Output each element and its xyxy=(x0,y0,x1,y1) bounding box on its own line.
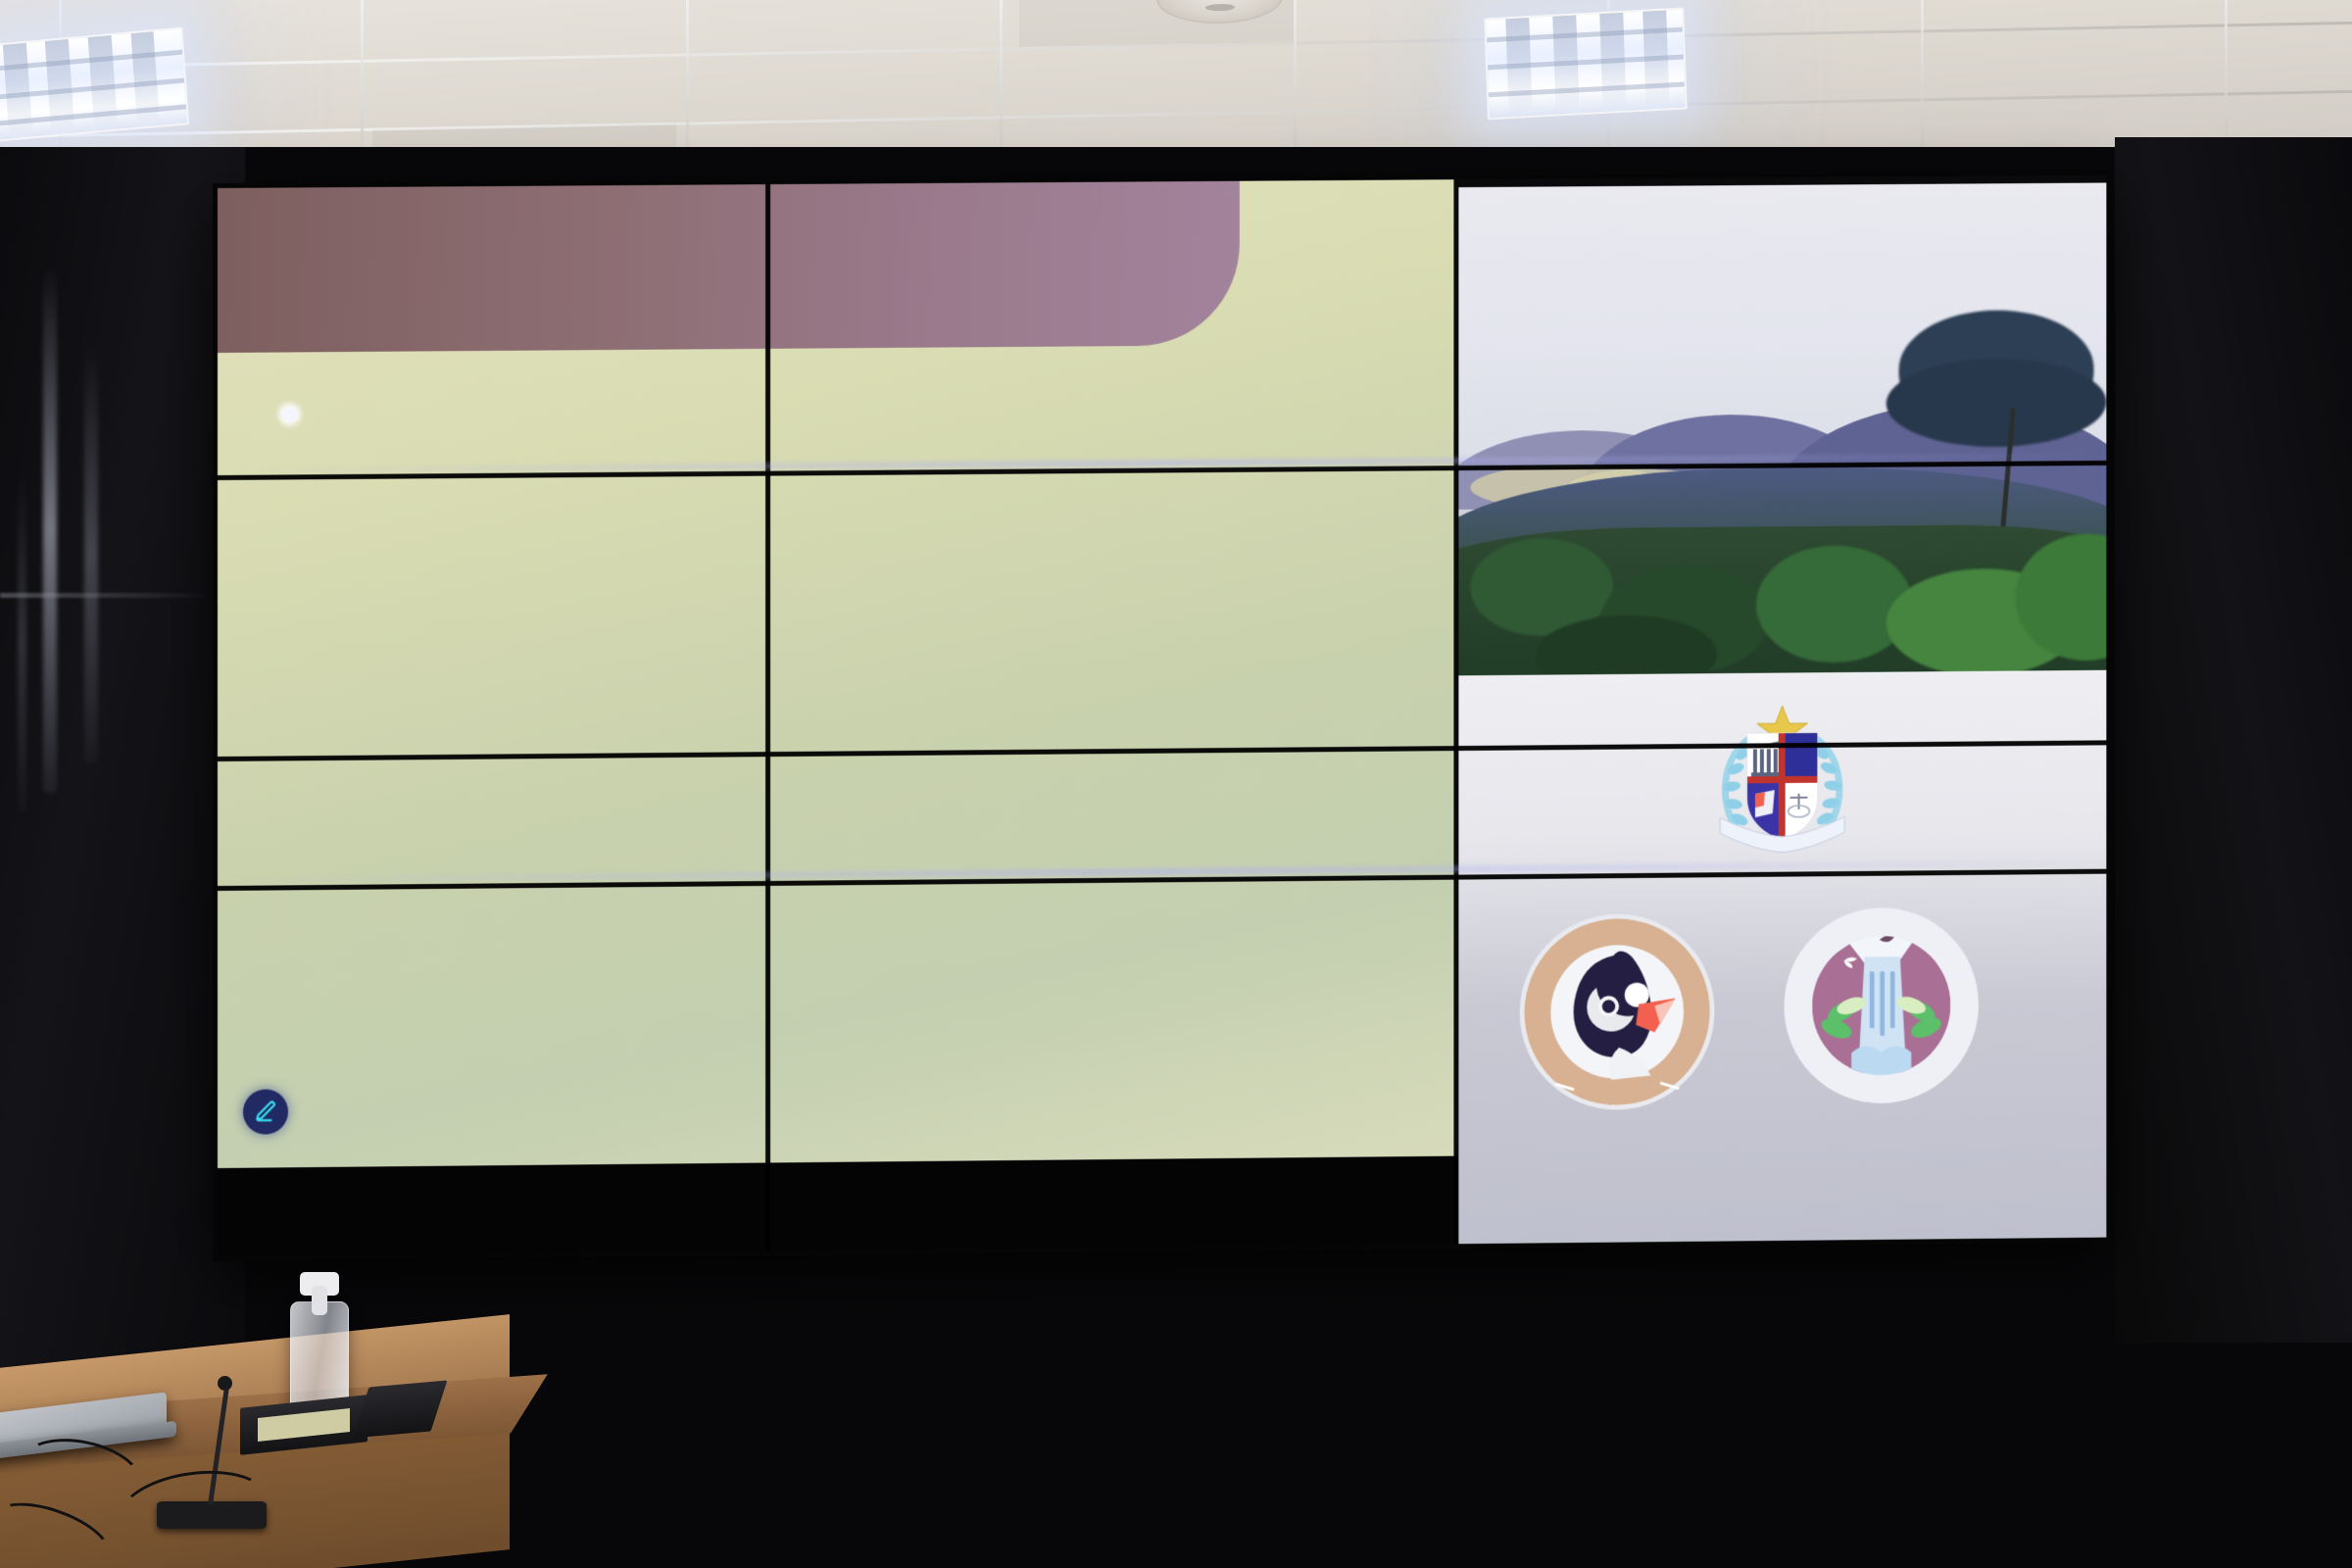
slide-kicker xyxy=(282,366,1396,374)
bullet-item xyxy=(272,381,1396,390)
room-scene xyxy=(0,0,2352,1568)
project-seals xyxy=(1457,877,2106,1205)
logo-area xyxy=(1457,670,2106,1244)
mpal-crest-logo xyxy=(1686,704,1880,881)
bullet-item xyxy=(272,381,1396,390)
bullet-item xyxy=(272,381,1396,390)
bezel-seam-vertical-2 xyxy=(1453,179,1458,1244)
ceiling-light-right xyxy=(1484,7,1688,120)
slide-body xyxy=(272,366,1396,390)
bullet-item xyxy=(272,381,1396,390)
bullet-list xyxy=(272,381,1396,390)
bullet-item xyxy=(272,381,1396,390)
pro-reservas-seal xyxy=(1779,902,1984,1110)
left-wall-panel xyxy=(0,147,245,1411)
bullet-item xyxy=(272,381,1396,390)
bezel-seam-vertical-1 xyxy=(765,184,770,1250)
right-wall-panel xyxy=(2115,137,2352,1343)
pencil-edit-icon[interactable] xyxy=(243,1089,288,1134)
video-wall-display[interactable] xyxy=(218,175,2106,1256)
mpeal-species-seal xyxy=(1514,907,1720,1116)
presentation-slide xyxy=(218,179,1457,1168)
forest-photograph xyxy=(1457,183,2106,676)
ceiling-light-left xyxy=(0,26,189,142)
slide-header-band xyxy=(218,181,1240,353)
slide-right-column xyxy=(1457,175,2106,1245)
